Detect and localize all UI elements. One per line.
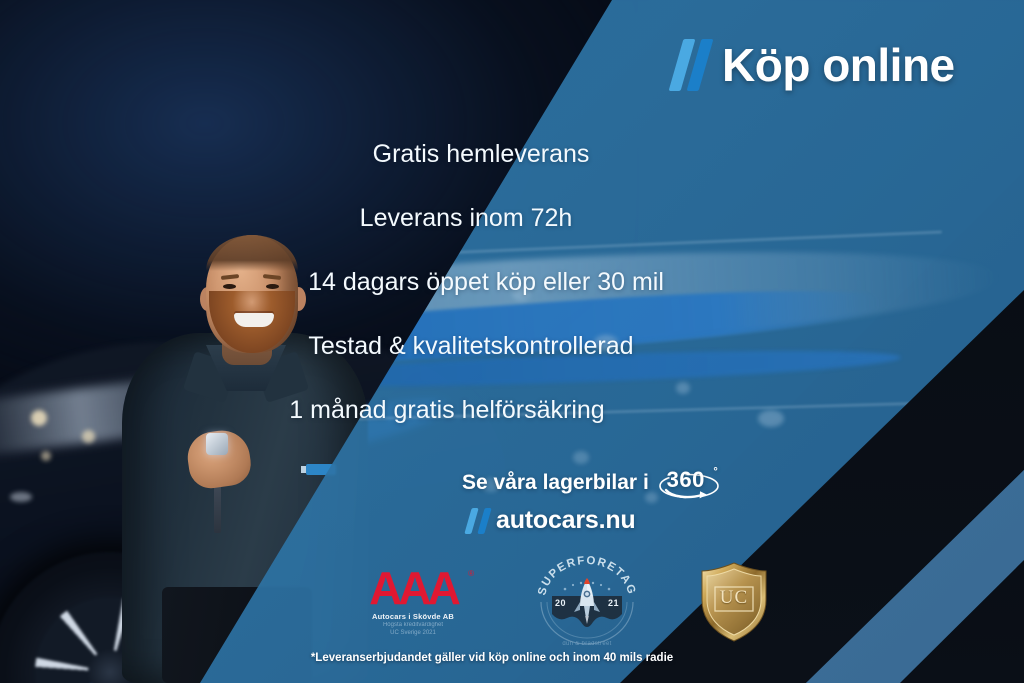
content-layer: Köp online Gratis hemleverans Leverans i… [0, 0, 1024, 683]
aaa-detail-text: Högsta kreditvärdighetUC Sverige 2021 [350, 622, 476, 637]
superforetag-award-logo: SUPERFÖRETAG [535, 556, 639, 648]
legal-footnote: *Leveranserbjudandet gäller vid köp onli… [0, 652, 1024, 664]
award-year-suffix: 21 [608, 598, 619, 608]
cta-lead-row: Se våra lagerbilar i 360 ° [462, 466, 720, 500]
headline-row: Köp online [676, 38, 955, 92]
advertisement-banner: Köp online Gratis hemleverans Leverans i… [0, 0, 1024, 683]
registered-trademark-icon: ® [468, 569, 474, 578]
double-slash-icon [468, 508, 488, 534]
feature-item: Leverans inom 72h [0, 204, 1024, 233]
double-slash-icon [676, 39, 706, 91]
award-source: dun & bradstreet [535, 641, 639, 647]
badge-degree-symbol: ° [713, 466, 717, 478]
page-title: Köp online [722, 38, 955, 92]
cta-lead-text: Se våra lagerbilar i [462, 471, 649, 495]
feature-list: Gratis hemleverans Leverans inom 72h 14 … [0, 140, 1024, 460]
award-year-prefix: 20 [555, 598, 566, 608]
cta-url-row[interactable]: autocars.nu [468, 506, 720, 535]
uc-shield-logo: UC [698, 560, 770, 644]
aaa-company-name: Autocars i Skövde AB [350, 612, 476, 621]
aaa-letters: AAA [350, 567, 476, 611]
feature-item: Testad & kvalitetskontrollerad [0, 332, 1024, 361]
uc-initials: UC [698, 587, 770, 609]
certification-logo-row: AAA ® Autocars i Skövde AB Högsta kredit… [350, 556, 770, 648]
feature-item: 14 dagars öppet köp eller 30 mil [0, 268, 1024, 297]
aaa-credit-rating-logo: AAA ® Autocars i Skövde AB Högsta kredit… [350, 567, 476, 638]
website-url[interactable]: autocars.nu [496, 506, 636, 535]
feature-item: Gratis hemleverans [0, 140, 1024, 169]
cta-block[interactable]: Se våra lagerbilar i 360 ° autocars.nu [462, 466, 720, 535]
feature-item: 1 månad gratis helförsäkring [0, 396, 1024, 425]
badge-360-icon: 360 ° [658, 466, 720, 500]
badge-360-number: 360 [658, 467, 714, 493]
